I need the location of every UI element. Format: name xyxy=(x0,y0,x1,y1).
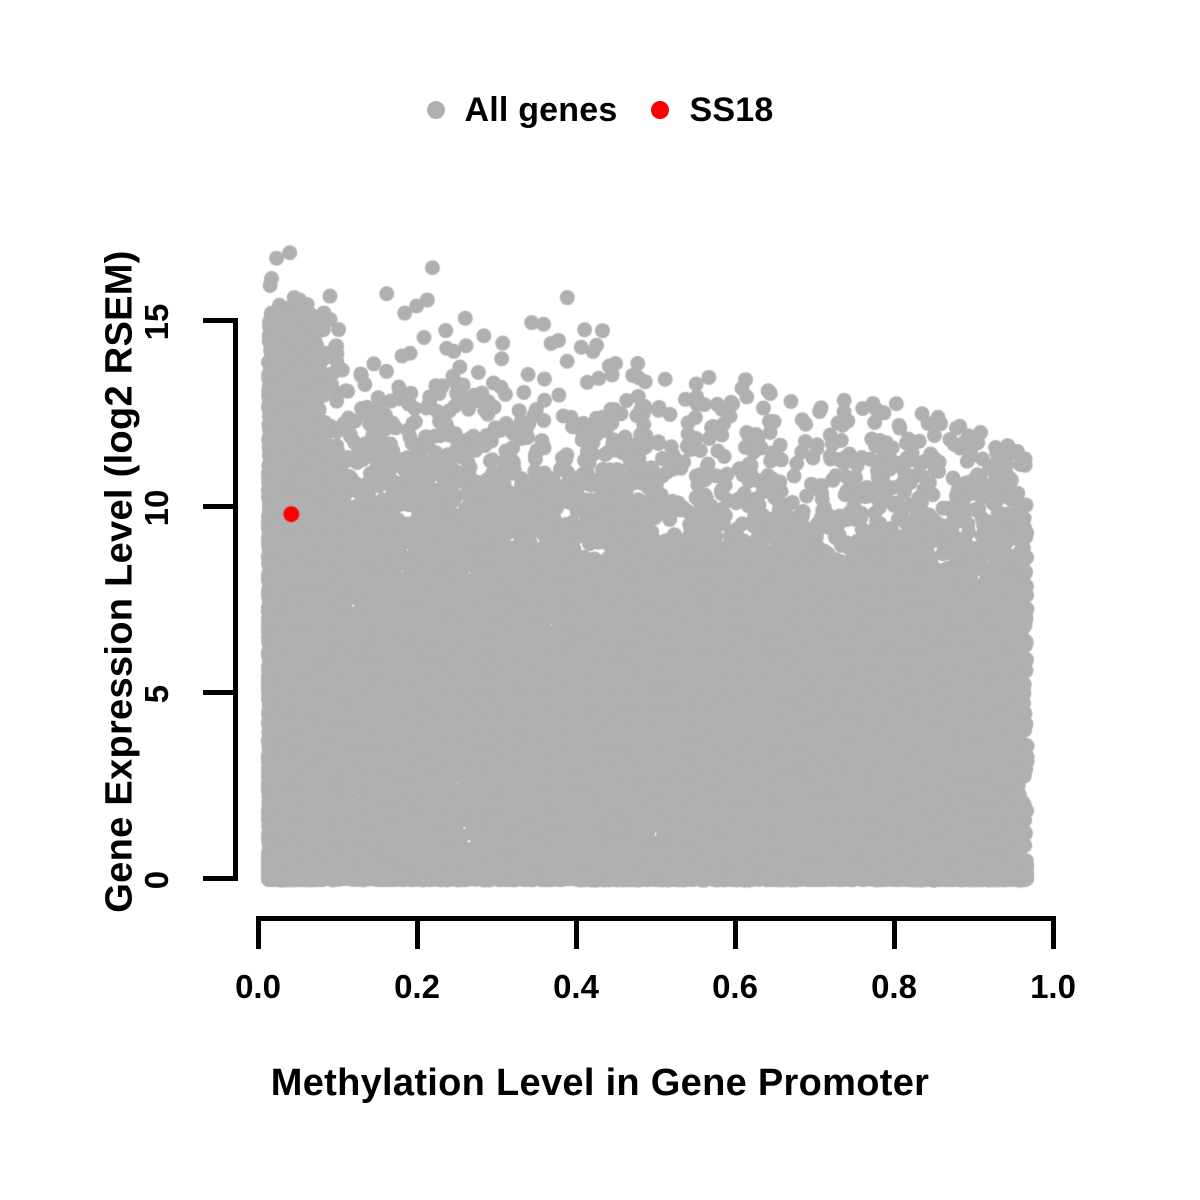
x-tick-label-0.8: 0.8 xyxy=(834,968,954,1006)
x-tick-label-0.2: 0.2 xyxy=(357,968,477,1006)
data-points-layer xyxy=(237,240,1049,900)
x-tick-0.0 xyxy=(256,916,261,949)
x-tick-label-0.6: 0.6 xyxy=(675,968,795,1006)
y-tick-label-10: 10 xyxy=(138,473,176,543)
x-axis-label: Methylation Level in Gene Promoter xyxy=(0,1062,1200,1105)
x-tick-0.8 xyxy=(892,916,897,949)
x-tick-label-0.4: 0.4 xyxy=(516,968,636,1006)
scatter-canvas xyxy=(237,240,1049,900)
x-tick-label-0.0: 0.0 xyxy=(198,968,318,1006)
y-tick-label-5: 5 xyxy=(138,659,176,729)
y-tick-0 xyxy=(203,876,238,881)
x-tick-1.0 xyxy=(1051,916,1056,949)
y-tick-label-15: 15 xyxy=(138,287,176,357)
y-tick-5 xyxy=(203,690,238,695)
plot-area: 15 10 5 0 0.0 0.2 0.4 0.6 0.8 1.0 Methyl… xyxy=(0,0,1200,1200)
scatter-plot-figure: All genes SS18 15 10 5 0 0.0 0.2 0.4 0 xyxy=(0,0,1200,1200)
y-tick-10 xyxy=(203,504,238,509)
y-axis-label: Gene Expression Level (log2 RSEM) xyxy=(99,152,142,1012)
x-tick-0.4 xyxy=(574,916,579,949)
x-tick-0.6 xyxy=(733,916,738,949)
y-axis-line xyxy=(233,320,238,881)
x-tick-0.2 xyxy=(415,916,420,949)
y-tick-15 xyxy=(203,318,238,323)
x-axis-line xyxy=(258,916,1054,921)
y-tick-label-0: 0 xyxy=(138,845,176,915)
x-tick-label-1.0: 1.0 xyxy=(993,968,1113,1006)
